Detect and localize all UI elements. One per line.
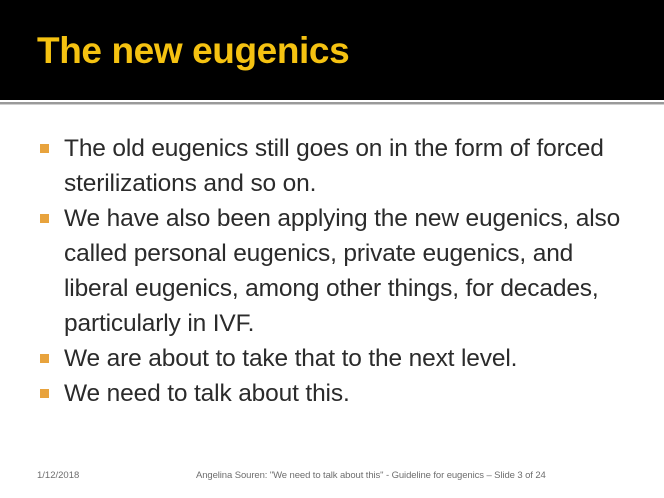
- slide-title: The new eugenics: [37, 31, 349, 72]
- slide-title-bar: The new eugenics: [0, 0, 664, 100]
- list-item: We need to talk about this.: [40, 376, 640, 411]
- slide-body: The old eugenics still goes on in the fo…: [40, 131, 640, 411]
- bullet-text: We are about to take that to the next le…: [64, 341, 640, 376]
- square-bullet-icon: [40, 144, 49, 153]
- bullet-text: We need to talk about this.: [64, 376, 640, 411]
- footer-date: 1/12/2018: [37, 470, 79, 481]
- presentation-slide: The new eugenics The old eugenics still …: [0, 0, 664, 498]
- divider-line-soft: [0, 104, 664, 105]
- list-item: The old eugenics still goes on in the fo…: [40, 131, 640, 201]
- square-bullet-icon: [40, 389, 49, 398]
- bullet-text: The old eugenics still goes on in the fo…: [64, 131, 640, 201]
- square-bullet-icon: [40, 354, 49, 363]
- bullet-text: We have also been applying the new eugen…: [64, 201, 640, 341]
- slide-footer: 1/12/2018 Angelina Souren: "We need to t…: [0, 470, 664, 490]
- list-item: We are about to take that to the next le…: [40, 341, 640, 376]
- list-item: We have also been applying the new eugen…: [40, 201, 640, 341]
- title-divider: [0, 100, 664, 107]
- square-bullet-icon: [40, 214, 49, 223]
- footer-caption: Angelina Souren: "We need to talk about …: [196, 470, 546, 481]
